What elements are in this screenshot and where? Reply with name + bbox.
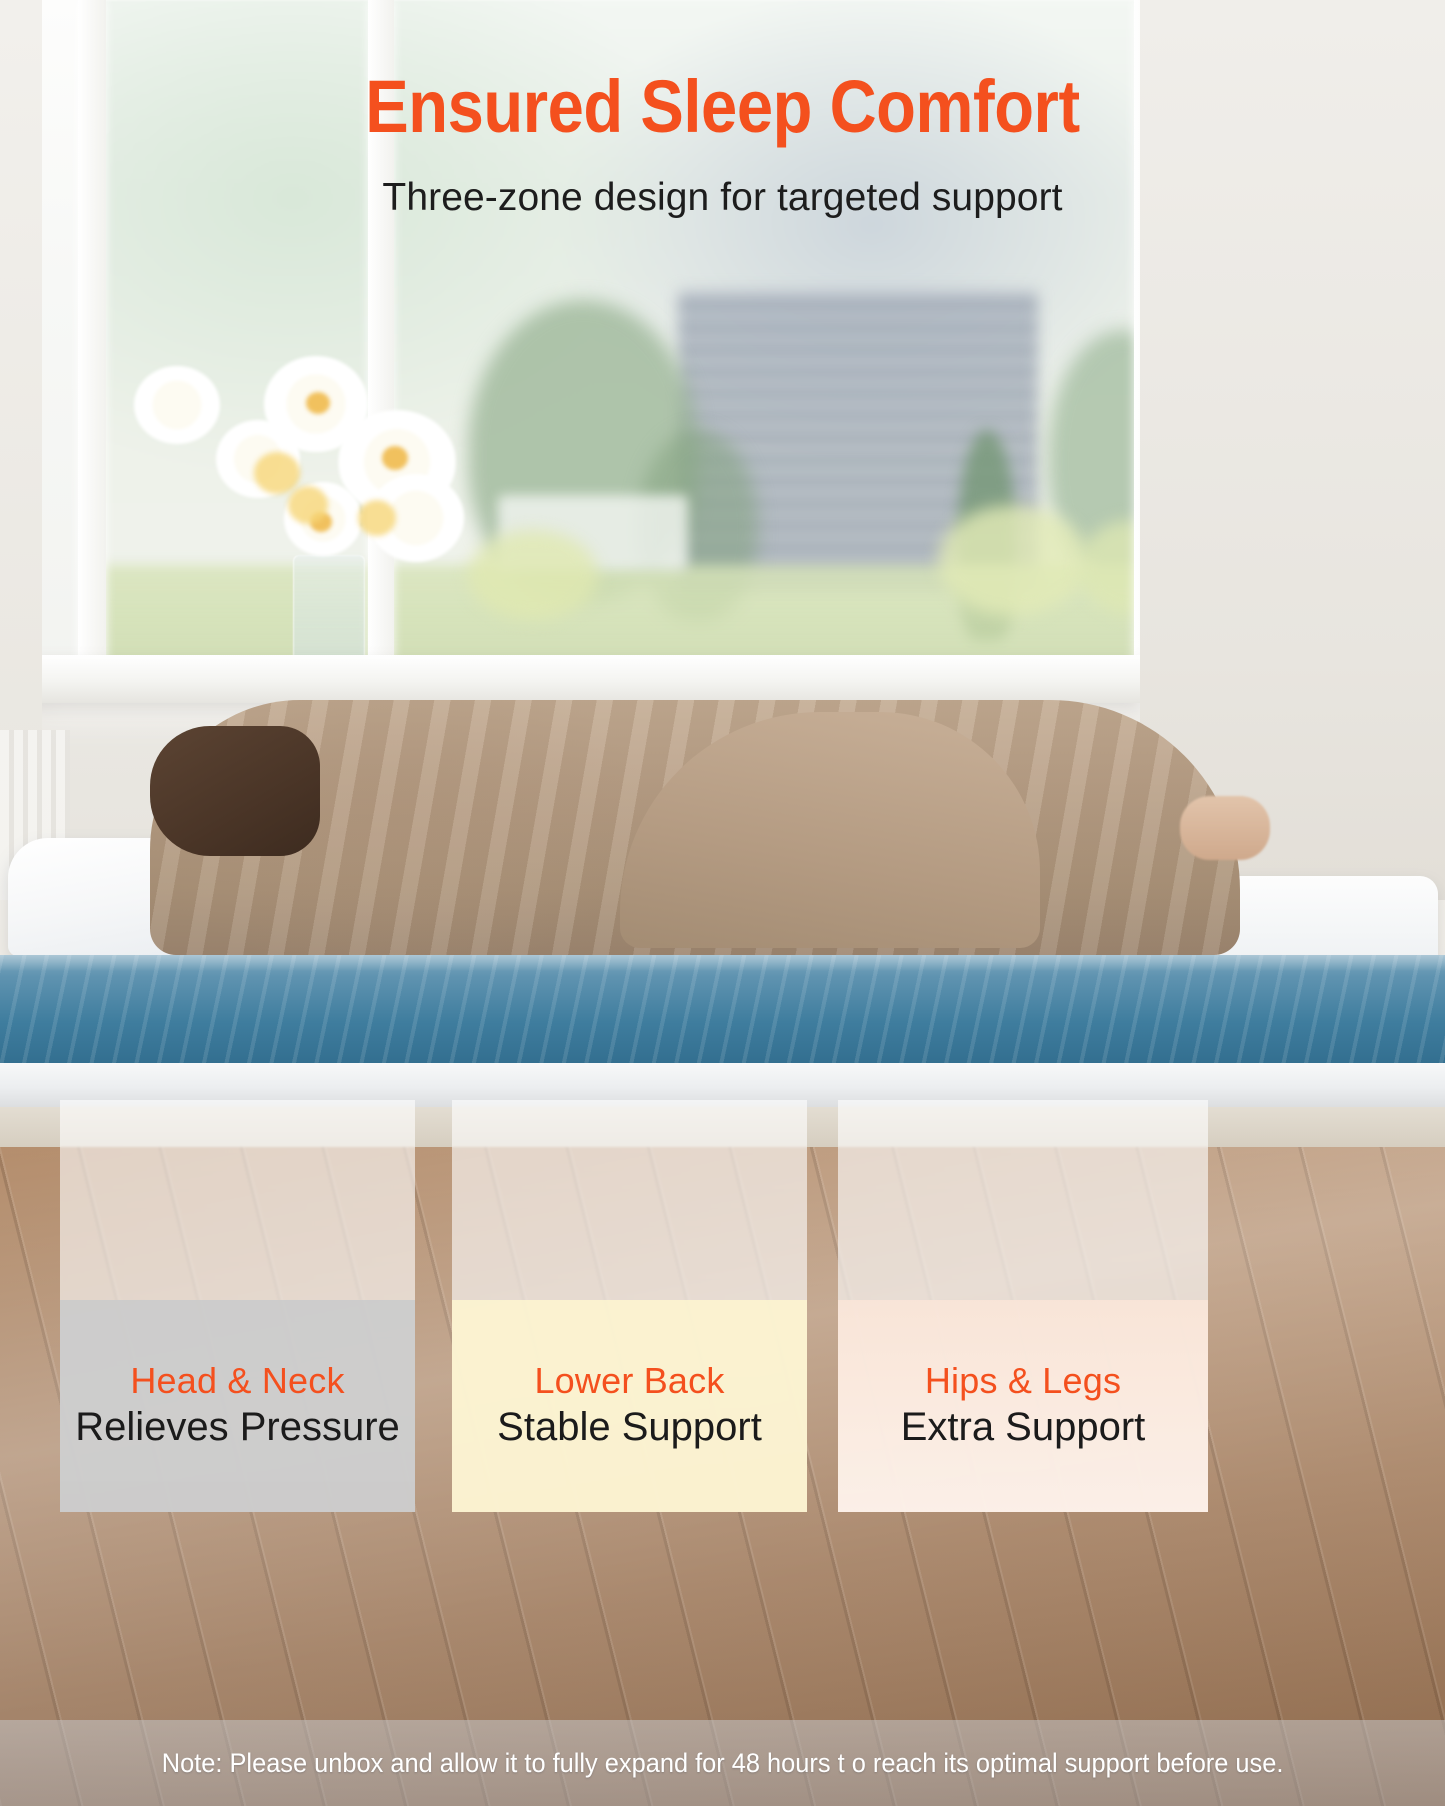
product-feature-poster: Ensured Sleep Comfort Three-zone design … [0,0,1445,1806]
page-title: Ensured Sleep Comfort [87,70,1359,144]
zone-label-panel: Lower Back Stable Support [452,1300,807,1512]
daisy-center [382,446,408,470]
yellow-bud [254,452,300,494]
window-sill [30,655,1140,703]
daisy-flower [134,366,220,444]
zone-subtitle: Stable Support [497,1404,762,1451]
daisy-center [306,392,330,414]
zone-column-head-neck: Head & Neck Relieves Pressure [60,1100,415,1512]
mattress-quilting-texture [0,955,1445,1063]
outdoor-bush [938,505,1088,615]
zone-title: Hips & Legs [925,1362,1121,1400]
zone-column-hips-legs: Hips & Legs Extra Support [838,1100,1208,1512]
sleeping-person-arm [1180,796,1270,860]
zone-label-panel: Head & Neck Relieves Pressure [60,1300,415,1512]
room-photo-scene [0,0,1445,1806]
yellow-bud [288,486,328,524]
zone-title: Head & Neck [130,1362,344,1400]
outdoor-bush [468,530,598,620]
sleeping-person-head [150,726,320,856]
yellow-bud [358,500,396,536]
blue-mattress-topper [0,955,1445,1063]
footer-note-text: Note: Please unbox and allow it to fully… [162,1748,1284,1779]
zone-subtitle: Extra Support [901,1404,1146,1451]
zone-label-panel: Hips & Legs Extra Support [838,1300,1208,1512]
page-subtitle: Three-zone design for targeted support [0,176,1445,220]
zone-subtitle: Relieves Pressure [75,1404,400,1451]
zone-column-lower-back: Lower Back Stable Support [452,1100,807,1512]
footer-note-bar: Note: Please unbox and allow it to fully… [0,1720,1445,1806]
zone-title: Lower Back [534,1362,724,1400]
